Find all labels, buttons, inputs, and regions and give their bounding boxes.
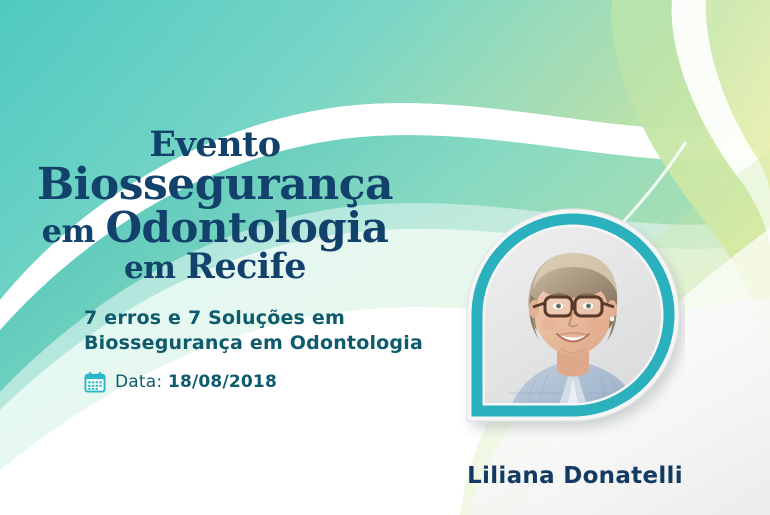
title-line-odontologia: em Odontologia [0,207,430,248]
event-text-block: Evento Biossegurança em Odontologia em R… [0,0,470,515]
speaker-name: Liliana Donatelli [455,463,695,489]
title-recife-word: Recife [186,246,306,287]
event-date-text: Data: 18/08/2018 [115,372,277,392]
date-value: 18/08/2018 [168,372,277,392]
event-subtitle: 7 erros e 7 Soluções em Biossegurança em… [84,306,424,356]
title-em-prefix-2: em [124,250,186,286]
calendar-icon [84,371,106,393]
event-title: Evento Biossegurança em Odontologia em R… [0,128,430,284]
date-label: Data: [115,372,162,392]
subtitle-line-1: 7 erros e 7 Soluções em [84,306,424,331]
portrait-photo [461,203,685,437]
subtitle-line-2: Biossegurança em Odontologia [84,331,424,356]
title-line-recife: em Recife [0,250,430,284]
title-line-evento: Evento [0,128,430,162]
title-line-biosseguranca: Biossegurança [0,163,430,206]
speaker-portrait [461,203,685,437]
event-banner: Evento Biossegurança em Odontologia em R… [0,0,770,515]
event-date-row: Data: 18/08/2018 [84,371,277,393]
title-em-prefix-1: em [42,212,106,250]
